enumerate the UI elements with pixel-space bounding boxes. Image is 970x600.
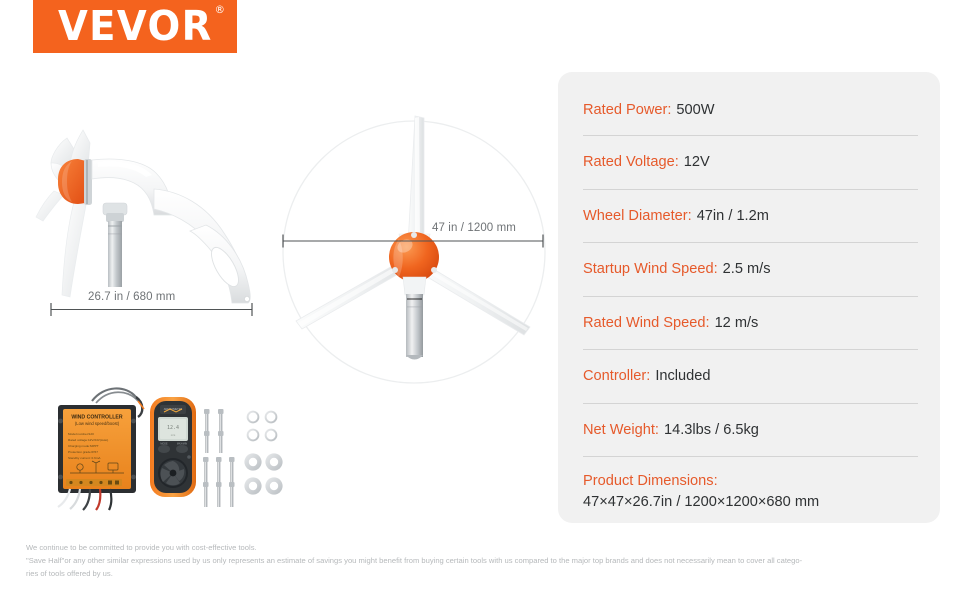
svg-text:Rated voltage:12V/24V(Auto): Rated voltage:12V/24V(Auto) bbox=[68, 438, 108, 442]
disclaimer-line-1: We continue to be committed to provide y… bbox=[26, 542, 956, 555]
vevor-logo: VEVOR® bbox=[33, 0, 237, 53]
spec-row-net-weight: Net Weight: 14.3lbs / 6.5kg bbox=[583, 404, 918, 458]
disclaimer-line-2: "Save Half"or any other similar expressi… bbox=[26, 555, 956, 568]
wind-turbine-front-view-icon bbox=[268, 105, 558, 395]
spec-value: 14.3lbs / 6.5kg bbox=[664, 422, 759, 438]
spec-value: 2.5 m/s bbox=[723, 261, 771, 277]
svg-text:MAX/MIN: MAX/MIN bbox=[177, 443, 188, 446]
svg-text:Model:number/120: Model:number/120 bbox=[68, 432, 94, 436]
spec-row-startup-wind-speed: Startup Wind Speed: 2.5 m/s bbox=[583, 243, 918, 297]
spec-row-wheel-diameter: Wheel Diameter: 47in / 1.2m bbox=[583, 190, 918, 244]
svg-text:Standby current: 0.6mA: Standby current: 0.6mA bbox=[68, 456, 101, 460]
svg-text:MODE: MODE bbox=[160, 443, 168, 446]
svg-text:12.4: 12.4 bbox=[167, 425, 179, 431]
spec-value: 12 m/s bbox=[715, 315, 759, 331]
wind-turbine-side-view-icon bbox=[20, 105, 280, 315]
dimension-label-diameter: 47 in / 1200 mm bbox=[432, 222, 516, 234]
spec-label: Wheel Diameter: bbox=[583, 208, 692, 224]
svg-text:m/s: m/s bbox=[171, 433, 176, 437]
spec-value: 47in / 1.2m bbox=[697, 208, 769, 224]
disclaimer-line-3: ries of tools offered by us. bbox=[26, 568, 956, 581]
spec-value: Included bbox=[655, 368, 710, 384]
spec-value: 47×47×26.7in / 1200×1200×680 mm bbox=[583, 492, 918, 513]
logo-wordmark-text: VEVOR bbox=[58, 2, 213, 50]
accessories-kit-icon: WIND CONTROLLER (Low wind speed/boost) M… bbox=[52, 383, 292, 513]
spec-label: Rated Voltage: bbox=[583, 154, 679, 170]
spec-row-rated-wind-speed: Rated Wind Speed: 12 m/s bbox=[583, 297, 918, 351]
spec-value: 500W bbox=[676, 102, 714, 118]
dimension-line-front-view bbox=[278, 232, 548, 250]
spec-label: Controller: bbox=[583, 368, 650, 384]
footer-disclaimer: We continue to be committed to provide y… bbox=[26, 542, 956, 580]
spec-label: Net Weight: bbox=[583, 422, 659, 438]
spec-row-rated-voltage: Rated Voltage: 12V bbox=[583, 136, 918, 190]
specifications-panel: Rated Power: 500W Rated Voltage: 12V Whe… bbox=[558, 72, 940, 523]
spec-row-controller: Controller: Included bbox=[583, 350, 918, 404]
svg-text:Protection grade:IP67: Protection grade:IP67 bbox=[68, 450, 98, 454]
spec-row-product-dimensions: Product Dimensions: 47×47×26.7in / 1200×… bbox=[583, 457, 918, 513]
product-image-accessories: WIND CONTROLLER (Low wind speed/boost) M… bbox=[52, 383, 292, 513]
spec-label: Rated Power: bbox=[583, 102, 671, 118]
dimension-line-side-view bbox=[44, 300, 260, 320]
logo-wordmark: VEVOR® bbox=[58, 6, 213, 47]
spec-row-rated-power: Rated Power: 500W bbox=[583, 72, 918, 136]
svg-text:WIND CONTROLLER: WIND CONTROLLER bbox=[71, 415, 123, 421]
svg-text:Charging mode:MPPT: Charging mode:MPPT bbox=[68, 444, 99, 448]
product-image-side-view bbox=[20, 105, 280, 315]
spec-label: Product Dimensions: bbox=[583, 471, 918, 492]
spec-value: 12V bbox=[684, 154, 710, 170]
registered-trademark-icon: ® bbox=[214, 4, 224, 15]
spec-label: Startup Wind Speed: bbox=[583, 261, 718, 277]
product-image-front-view bbox=[268, 105, 558, 395]
specifications-list: Rated Power: 500W Rated Voltage: 12V Whe… bbox=[583, 72, 918, 513]
spec-label: Rated Wind Speed: bbox=[583, 315, 710, 331]
dimension-label-height: 26.7 in / 680 mm bbox=[88, 291, 175, 303]
svg-text:(Low wind speed/boost): (Low wind speed/boost) bbox=[75, 421, 120, 426]
